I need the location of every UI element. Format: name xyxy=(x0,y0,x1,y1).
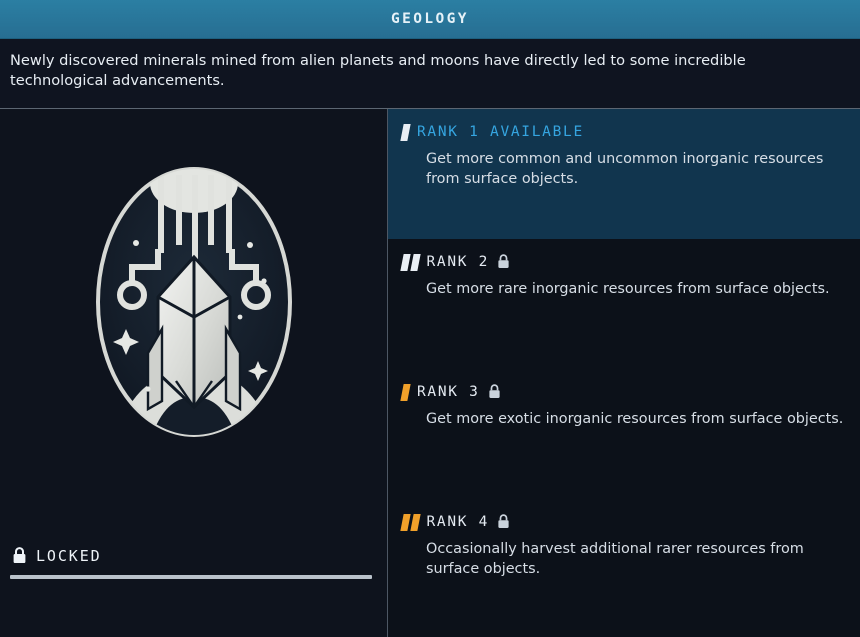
rank-pip xyxy=(400,254,410,271)
rank-header: RANK 3 xyxy=(402,382,844,402)
skill-description-text: Newly discovered minerals mined from ali… xyxy=(10,51,810,91)
rank-row[interactable]: RANK 3 Get more exotic inorganic resourc… xyxy=(388,369,860,499)
rank-pip xyxy=(410,514,420,531)
rank-title: RANK 3 xyxy=(417,384,480,400)
lock-icon xyxy=(497,253,510,271)
rank-description: Get more common and uncommon inorganic r… xyxy=(426,149,844,189)
rank-header: RANK 2 xyxy=(402,252,844,272)
locked-label: LOCKED xyxy=(36,547,102,565)
skill-emblem-panel: LOCKED xyxy=(0,109,388,637)
skill-description-strip: Newly discovered minerals mined from ali… xyxy=(0,39,860,109)
rank-description: Occasionally harvest additional rarer re… xyxy=(426,539,844,579)
rank-pips xyxy=(402,514,419,531)
rank-description: Get more exotic inorganic resources from… xyxy=(426,409,844,429)
skill-detail-panel: GEOLOGY Newly discovered minerals mined … xyxy=(0,0,860,637)
rank-pip xyxy=(410,254,420,271)
rank-title: RANK 2 xyxy=(427,254,490,270)
rank-pip xyxy=(400,514,410,531)
rank-row[interactable]: RANK 1 AVAILABLE Get more common and unc… xyxy=(388,109,860,239)
panel-header: GEOLOGY xyxy=(0,0,860,39)
rank-title: RANK 4 xyxy=(427,514,490,530)
lock-icon xyxy=(12,547,27,565)
rank-title: RANK 1 AVAILABLE xyxy=(417,124,584,140)
skill-progress-bar xyxy=(10,575,372,579)
rank-list: RANK 1 AVAILABLE Get more common and unc… xyxy=(388,109,860,637)
rank-header: RANK 4 xyxy=(402,512,844,532)
rank-description: Get more rare inorganic resources from s… xyxy=(426,279,844,299)
rank-header: RANK 1 AVAILABLE xyxy=(402,122,844,142)
page-title: GEOLOGY xyxy=(391,11,469,27)
rank-pip xyxy=(400,124,410,141)
rank-row[interactable]: RANK 4 Occasionally harvest additional r… xyxy=(388,499,860,629)
lock-icon xyxy=(497,513,510,531)
lock-icon xyxy=(488,383,501,401)
rank-pips xyxy=(402,254,419,271)
panel-body: LOCKED RANK 1 AVAILABLE Get more common … xyxy=(0,109,860,637)
rank-pips xyxy=(402,384,409,401)
locked-status: LOCKED xyxy=(12,547,102,565)
emblem-container xyxy=(0,157,387,447)
rank-pip xyxy=(400,384,410,401)
rank-pips xyxy=(402,124,409,141)
rank-row[interactable]: RANK 2 Get more rare inorganic resources… xyxy=(388,239,860,369)
geology-crystal-emblem-icon xyxy=(88,157,300,447)
